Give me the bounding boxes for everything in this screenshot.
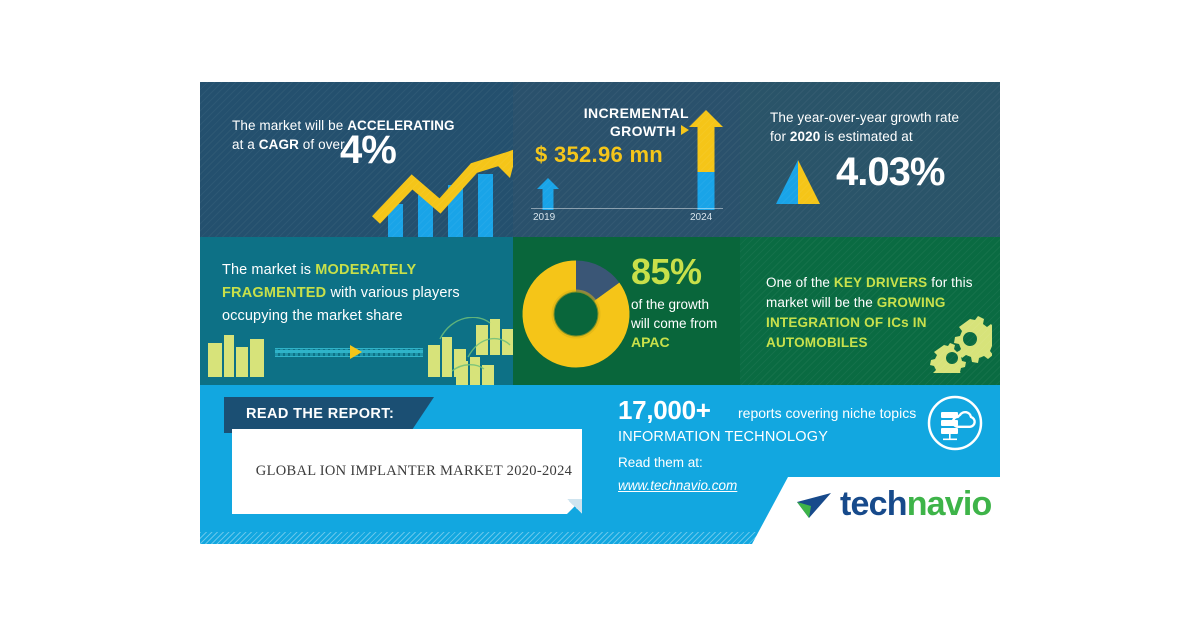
logo-text-tech: tech [840, 485, 907, 523]
play-triangle-icon [681, 125, 689, 135]
panel-apac-share: 85% of the growth will come from APAC [513, 237, 740, 385]
panel-incremental-growth: INCREMENTAL GROWTH $ 352.96 mn 2019 2024 [513, 82, 740, 237]
cloud-server-icon [927, 395, 983, 451]
technavio-wordmark: technavio [840, 485, 992, 524]
fragmentation-arrow-icon [350, 345, 362, 359]
yoy-statement: The year-over-year growth rate for 2020 … [770, 108, 985, 146]
report-count-caption: reports covering niche topics [738, 405, 916, 421]
incremental-axis-line [531, 208, 723, 209]
column-2019 [537, 178, 559, 210]
panel-fragmentation: The market is MODERATELY FRAGMENTED with… [200, 237, 513, 385]
infographic-canvas: The market will be ACCELERATING at a CAG… [0, 0, 1200, 627]
yoy-line2-suffix: is estimated at [820, 129, 912, 144]
cagr-line1-prefix: The market will be [232, 118, 347, 133]
city-right-c [456, 357, 494, 385]
panel-footer: READ THE REPORT: GLOBAL ION IMPLANTER MA… [200, 385, 1000, 544]
fragmentation-illustration [200, 317, 513, 385]
read-report-ribbon: READ THE REPORT: [224, 397, 434, 433]
website-link[interactable]: www.technavio.com [618, 478, 737, 493]
technavio-logo-icon [795, 491, 833, 523]
yoy-value: 4.03% [836, 150, 944, 195]
apac-donut-chart [521, 259, 631, 369]
read-them-at-label: Read them at: [618, 455, 703, 470]
cagr-line2-prefix: at a [232, 137, 259, 152]
drivers-emphasis-1: KEY DRIVERS [834, 275, 927, 290]
read-report-label: READ THE REPORT: [246, 406, 394, 422]
city-right-b [476, 319, 513, 355]
incremental-heading-line2: GROWTH [610, 123, 676, 139]
card-fold-corner [567, 499, 582, 514]
yoy-line2-prefix: for [770, 129, 790, 144]
panel-cagr: The market will be ACCELERATING at a CAG… [200, 82, 513, 237]
growth-triangle-icon [774, 158, 822, 206]
yoy-line1: The year-over-year growth rate [770, 110, 959, 125]
report-category: INFORMATION TECHNOLOGY [618, 429, 828, 445]
cagr-line2-emphasis: CAGR [259, 137, 299, 152]
footer-texture [200, 532, 1000, 544]
apac-caption-line2: will come from [631, 316, 717, 331]
apac-caption-line1: of the growth [631, 297, 709, 312]
apac-percent: 85% [631, 251, 702, 293]
drivers-prefix: One of the [766, 275, 834, 290]
incremental-growth-value: $ 352.96 mn [535, 142, 663, 168]
panel-key-drivers: One of the KEY DRIVERS for this market w… [740, 237, 1000, 385]
panel-yoy-growth: The year-over-year growth rate for 2020 … [740, 82, 1000, 237]
report-count: 17,000+ [618, 395, 711, 426]
city-left-a [208, 335, 264, 377]
incremental-growth-heading: INCREMENTAL GROWTH [531, 104, 689, 140]
trend-arrow-icon [370, 144, 513, 237]
logo-text-navio: navio [907, 485, 992, 523]
panel-board: The market will be ACCELERATING at a CAG… [200, 82, 1000, 544]
incremental-year-end: 2024 [690, 212, 712, 223]
column-2024 [689, 110, 723, 210]
gears-icon [930, 315, 992, 373]
fragmentation-prefix: The market is [222, 262, 315, 278]
cagr-line2-suffix: of over [299, 137, 345, 152]
report-title-card[interactable]: GLOBAL ION IMPLANTER MARKET 2020-2024 [232, 429, 582, 514]
fragmentation-track-line [275, 350, 423, 353]
report-title: GLOBAL ION IMPLANTER MARKET 2020-2024 [254, 463, 574, 480]
incremental-heading-line1: INCREMENTAL [584, 105, 689, 121]
apac-region: APAC [631, 334, 670, 350]
apac-caption: of the growth will come from APAC [631, 295, 737, 352]
incremental-year-start: 2019 [533, 212, 555, 223]
yoy-year: 2020 [790, 129, 820, 144]
